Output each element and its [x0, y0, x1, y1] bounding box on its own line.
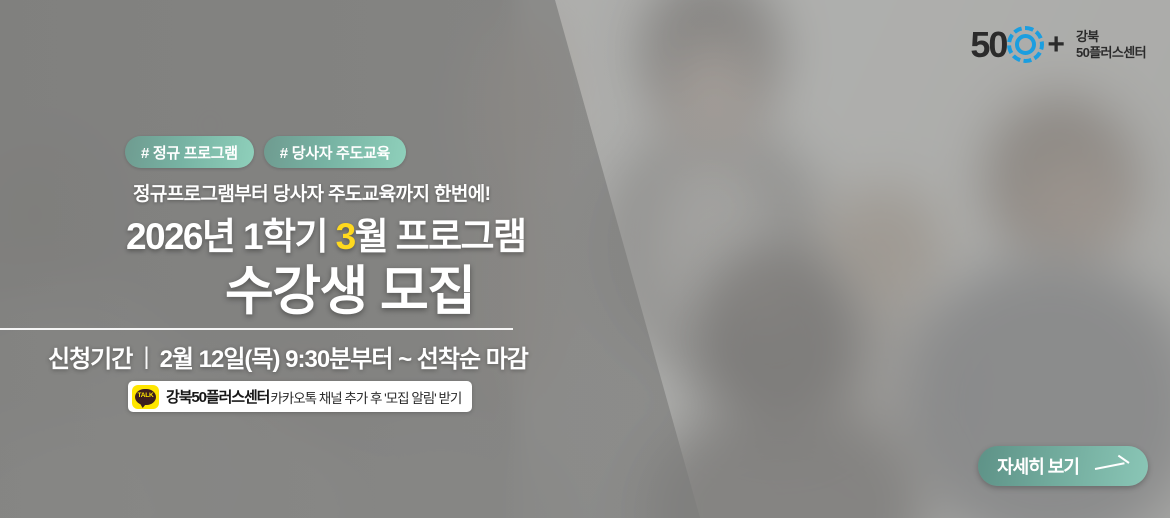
- kakaotalk-bubble: TALK: [135, 389, 156, 405]
- kakaotalk-badge-text: TALK: [137, 393, 153, 400]
- logo-name-line-1: 강북: [1076, 29, 1146, 45]
- banner-content: # 정규 프로그램 # 당사자 주도교육 정규프로그램부터 당사자 주도교육까지…: [0, 0, 1170, 518]
- application-period: 신청기간 | 2월 12일(목) 9:30분부터 ~ 선착순 마감: [48, 339, 528, 374]
- logo-number: 50: [970, 27, 1006, 63]
- application-period-separator: |: [143, 343, 148, 371]
- hashtag-pill-group: # 정규 프로그램 # 당사자 주도교육: [125, 136, 406, 168]
- application-period-value: 2월 12일(목) 9:30분부터 ~ 선착순 마감: [160, 339, 528, 374]
- divider-rule: [0, 328, 513, 330]
- arrow-right-icon: [1095, 460, 1129, 472]
- hashtag-pill-regular-program[interactable]: # 정규 프로그램: [125, 136, 254, 168]
- logo-mark: 50 +: [970, 26, 1065, 63]
- kakao-channel-message: 카카오톡 채널 추가 후 '모집 알림' 받기: [270, 387, 461, 407]
- hashtag-pill-peer-led-education[interactable]: # 당사자 주도교육: [264, 136, 406, 168]
- application-period-label: 신청기간: [48, 339, 132, 374]
- view-details-label: 자세히 보기: [997, 453, 1079, 479]
- promo-banner: # 정규 프로그램 # 당사자 주도교육 정규프로그램부터 당사자 주도교육까지…: [0, 0, 1170, 518]
- headline-line-2: 수강생 모집: [225, 249, 475, 325]
- view-details-button[interactable]: 자세히 보기: [978, 446, 1148, 486]
- kakaotalk-icon: TALK: [132, 385, 159, 409]
- kakao-channel-name: 강북50플러스센터: [166, 386, 269, 407]
- target-ring-icon: [1007, 26, 1044, 63]
- logo-plus-sign: +: [1047, 30, 1065, 60]
- organization-logo[interactable]: 50 + 강북 50플러스센터: [970, 26, 1146, 63]
- logo-name-line-2: 50플러스센터: [1076, 45, 1146, 61]
- kakao-channel-row[interactable]: TALK 강북50플러스센터 카카오톡 채널 추가 후 '모집 알림' 받기: [128, 381, 472, 412]
- logo-wordmark: 강북 50플러스센터: [1076, 29, 1146, 61]
- subheadline: 정규프로그램부터 당사자 주도교육까지 한번에!: [133, 179, 490, 206]
